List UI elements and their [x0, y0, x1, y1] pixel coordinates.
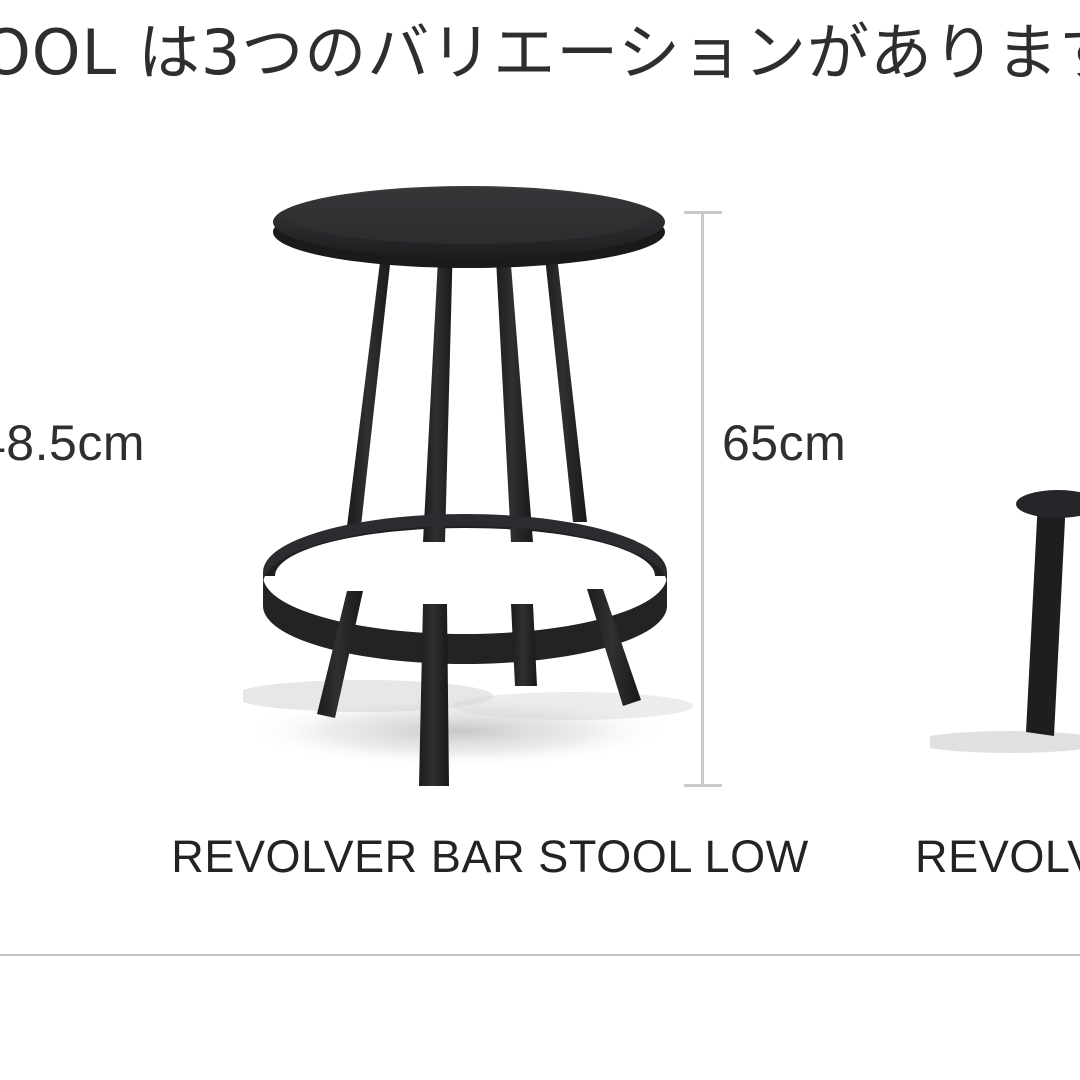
bar-stool-next-container	[930, 470, 1080, 770]
dimension-label-height: 65cm	[722, 404, 846, 482]
bar-stool-low-image	[243, 186, 695, 794]
stool-legs-back	[347, 238, 587, 526]
product-variation-page: OOL は3つのバリエーションがあります 48.5cm 65cm	[0, 0, 1080, 1080]
bar-stool-next-image	[930, 470, 1080, 770]
stool-seat	[273, 186, 665, 268]
page-headline: OOL は3つのバリエーションがあります	[0, 22, 1080, 84]
section-divider	[0, 954, 1080, 956]
footrest-ring-back	[263, 518, 667, 576]
product-caption-low: REVOLVER BAR STOOL LOW	[140, 826, 840, 888]
stool-seat-next	[1016, 490, 1080, 518]
product-caption-next-container: REVOLV	[905, 826, 1080, 888]
stool-legs-front-upper	[423, 240, 533, 542]
stool-leg-next	[1026, 500, 1066, 736]
footrest-ring-highlight	[263, 514, 667, 584]
dimension-line-icon	[701, 212, 704, 786]
headline-container: OOL は3つのバリエーションがあります	[0, 0, 1080, 132]
width-label-container: 48.5cm	[0, 404, 210, 482]
product-caption-next: REVOLV	[915, 826, 1080, 888]
dimension-label-width: 48.5cm	[0, 404, 145, 482]
floor-shadow-next	[930, 731, 1080, 753]
